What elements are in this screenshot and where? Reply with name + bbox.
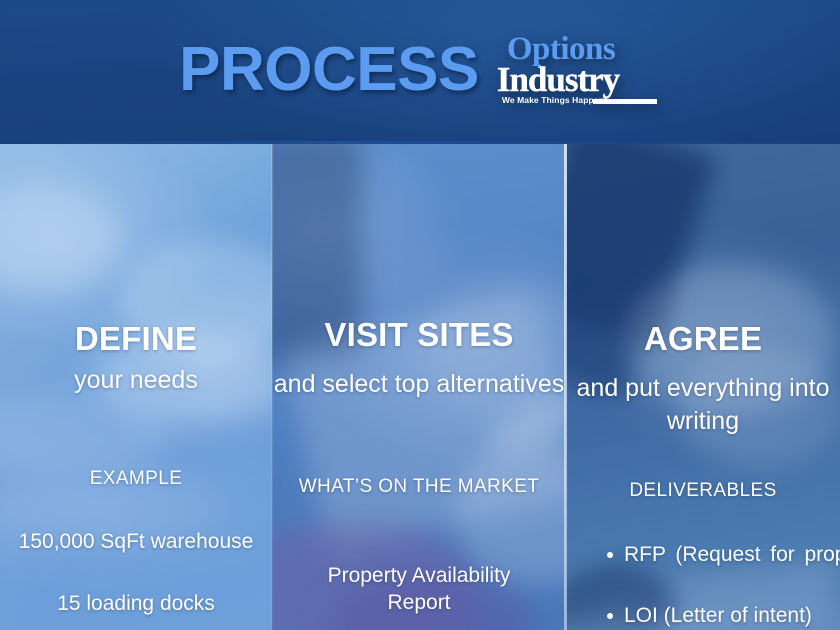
column-define-content: DEFINE your needs EXAMPLE 150,000 SqFt w… bbox=[0, 144, 272, 630]
column-define-item: 15 loading docks bbox=[0, 590, 272, 617]
column-agree-section-label: DELIVERABLES bbox=[566, 478, 840, 503]
column-visit-sites-heading: VISIT SITES bbox=[272, 318, 566, 353]
header-inner: PROCESS Options Industry We Make Things … bbox=[0, 28, 840, 118]
list-item: LOI (Letter of intent) bbox=[596, 601, 840, 630]
column-divider bbox=[564, 144, 567, 630]
column-define-section-label: EXAMPLE bbox=[0, 466, 272, 491]
page-title: PROCESS bbox=[179, 39, 479, 107]
process-column-agree: AGREE and put everything into writing DE… bbox=[566, 144, 840, 630]
options-industry-logo: Options Industry We Make Things Happen! bbox=[493, 31, 661, 115]
column-agree-deliverables-list: RFP (Request for proposal) LOI (Letter o… bbox=[596, 540, 840, 630]
column-visit-sites-content: VISIT SITES and select top alternatives … bbox=[272, 144, 566, 630]
column-agree-subheading: and put everything into writing bbox=[566, 372, 840, 438]
logo-tagline: We Make Things Happen! bbox=[502, 95, 607, 105]
column-define-heading: DEFINE bbox=[0, 322, 272, 357]
logo-line-industry: Industry bbox=[497, 62, 619, 97]
column-agree-heading: AGREE bbox=[566, 322, 840, 357]
list-item: RFP (Request for proposal) bbox=[596, 540, 840, 600]
process-columns: DEFINE your needs EXAMPLE 150,000 SqFt w… bbox=[0, 144, 840, 630]
column-define-subheading: your needs bbox=[0, 364, 272, 397]
column-visit-sites-section-label: WHAT’S ON THE MARKET bbox=[272, 474, 566, 499]
column-define-item: 150,000 SqFt warehouse bbox=[0, 528, 272, 555]
column-visit-sites-subheading: and select top alternatives bbox=[272, 368, 566, 401]
process-column-visit-sites: VISIT SITES and select top alternatives … bbox=[272, 144, 566, 630]
column-divider bbox=[271, 144, 273, 630]
process-infographic-slide: PROCESS Options Industry We Make Things … bbox=[0, 0, 840, 630]
column-visit-sites-item: Property Availability Report bbox=[272, 562, 566, 617]
process-column-define: DEFINE your needs EXAMPLE 150,000 SqFt w… bbox=[0, 144, 272, 630]
slide-header: PROCESS Options Industry We Make Things … bbox=[0, 0, 840, 144]
column-agree-content: AGREE and put everything into writing DE… bbox=[566, 144, 840, 630]
